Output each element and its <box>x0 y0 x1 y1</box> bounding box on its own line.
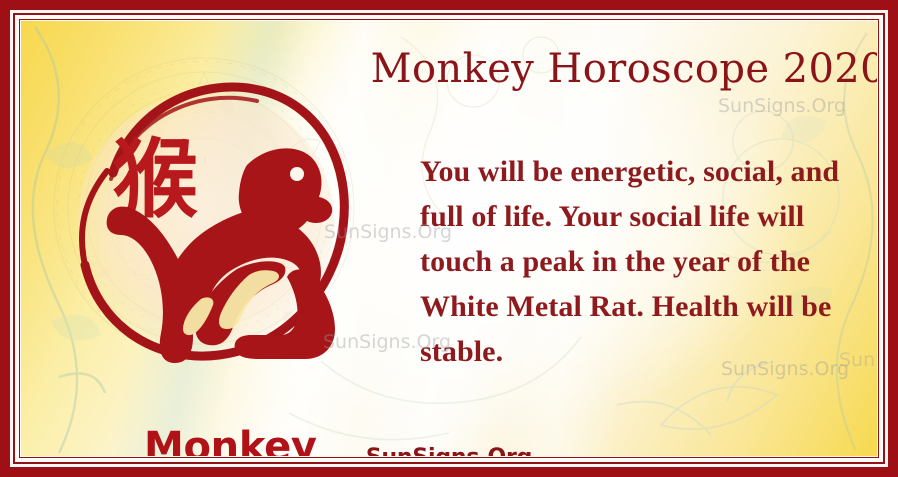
horoscope-card: 猴 <box>0 0 898 477</box>
watermark: SunSigns.Org <box>718 95 846 117</box>
monkey-zodiac-emblem: 猴 <box>51 61 361 381</box>
brand-name: SunSigns.Org <box>21 445 877 456</box>
horoscope-body-text: You will be energetic, social, and full … <box>420 149 872 374</box>
page-title: Monkey Horoscope 2020 <box>326 47 877 91</box>
card-canvas: 猴 <box>21 21 877 456</box>
monkey-eye <box>290 167 304 181</box>
monkey-zodiac-emblem-svg: 猴 <box>51 61 361 381</box>
